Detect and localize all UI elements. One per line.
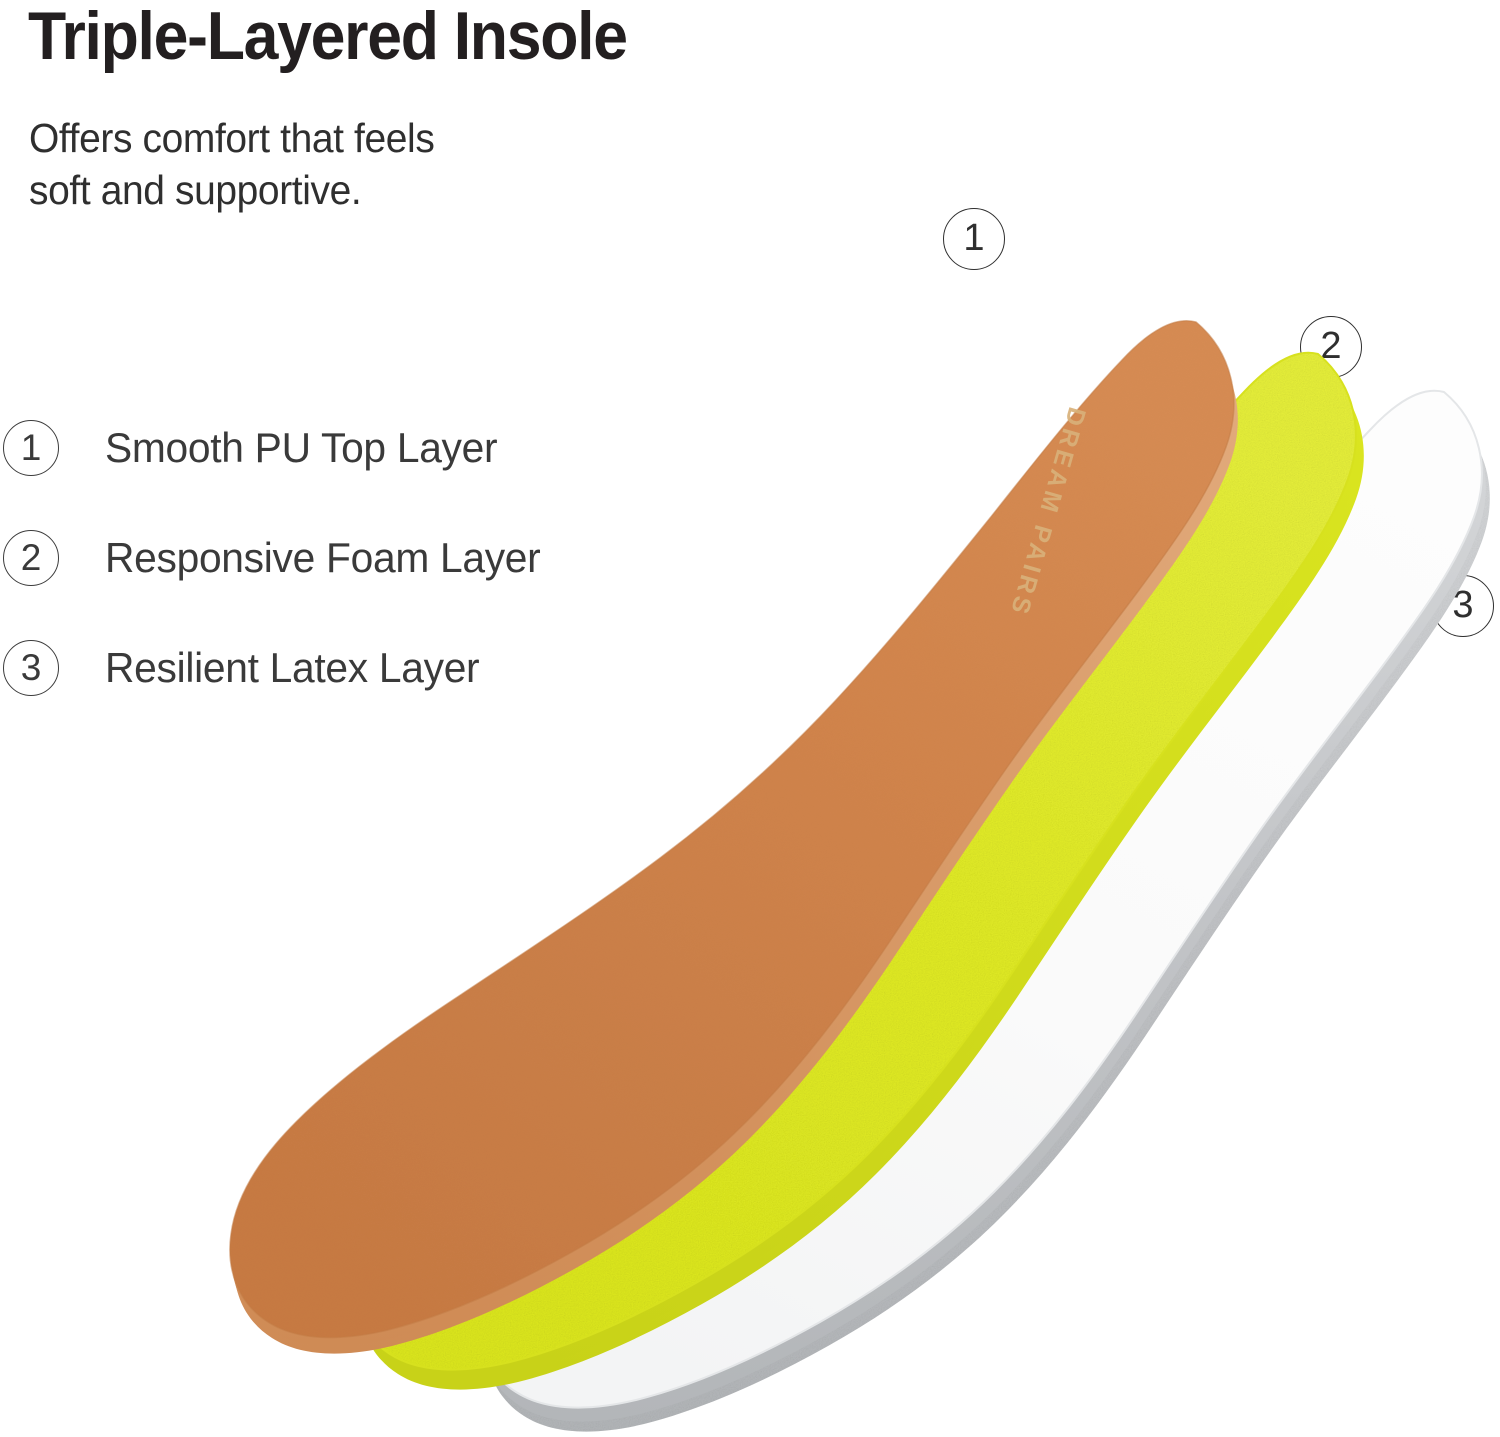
legend-number-badge-2: 2 (3, 530, 59, 586)
legend-number-badge-1: 1 (3, 420, 59, 476)
callout-marker-3: 3 (1432, 575, 1494, 637)
page-subtitle-line-1: Offers comfort that feels (29, 112, 434, 164)
layer-legend-list: 1 Smooth PU Top Layer 2 Responsive Foam … (3, 412, 703, 742)
page-subtitle-line-2: soft and supportive. (29, 164, 434, 216)
legend-label-2: Responsive Foam Layer (105, 534, 540, 582)
brand-emboss-text: DREAM PAIRS (1004, 404, 1091, 620)
callout-marker-1: 1 (943, 208, 1005, 270)
legend-label-1: Smooth PU Top Layer (105, 424, 497, 472)
list-item: 1 Smooth PU Top Layer (3, 412, 703, 484)
list-item: 2 Responsive Foam Layer (3, 522, 703, 594)
page-title: Triple-Layered Insole (28, 2, 627, 70)
callout-marker-2: 2 (1300, 316, 1362, 378)
legend-label-3: Resilient Latex Layer (105, 644, 479, 692)
legend-number-badge-3: 3 (3, 640, 59, 696)
page-subtitle: Offers comfort that feels soft and suppo… (29, 112, 434, 217)
list-item: 3 Resilient Latex Layer (3, 632, 703, 704)
